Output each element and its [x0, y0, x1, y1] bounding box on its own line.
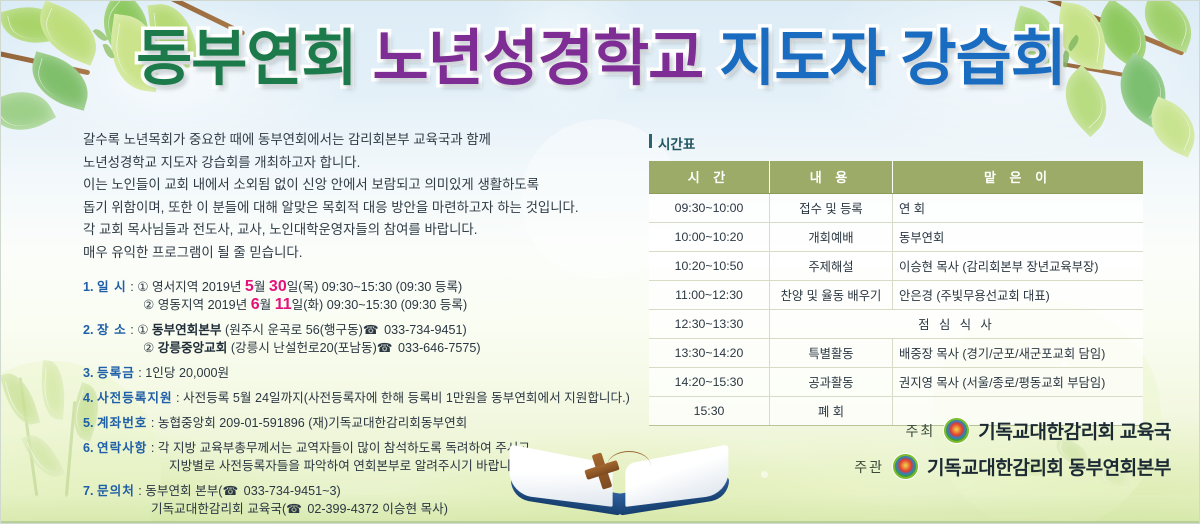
detail-value: : 1인당 20,000원 [138, 366, 229, 380]
detail-label: 문의처 [97, 484, 135, 498]
phone-icon [363, 323, 381, 337]
intro-line: 돕기 위함이며, 또한 이 분들에 대해 알맞은 목회적 대응 방안을 마련하고… [83, 197, 643, 220]
cell-person: 동부연회 [893, 223, 1144, 252]
column-header-time: 시 간 [649, 161, 770, 194]
table-row: 14:20~15:30 공과활동 권지영 목사 (서울/종로/평동교회 부담임) [649, 368, 1143, 397]
poster-canvas: 동부연회 노년성경학교 지도자 강습회 갈수록 노년목회가 중요한 때에 동부연… [0, 0, 1200, 524]
phone-icon [223, 484, 241, 498]
detail-label: 계좌번호 [97, 416, 147, 430]
detail-item-preregistration: 4. 사전등록지원 : 사전등록 5월 24일까지(사전등록자에 한해 등록비 … [83, 389, 643, 407]
detail-label: 등록금 [97, 366, 135, 380]
contact-sub-prefix: 기독교대한감리회 교육국( [151, 502, 286, 516]
title-part-program: 노년성경학교 [373, 24, 704, 92]
detail-number: 7. [83, 484, 94, 498]
cell-topic: 개회예배 [770, 223, 893, 252]
intro-line: 노년성경학교 지도자 강습회를 개최하고자 합니다. [83, 152, 643, 175]
venue-a-marker: ① [137, 323, 152, 337]
intro-line: 이는 노인들이 교회 내에서 소외됨 없이 신앙 안에서 보람되고 의미있게 생… [83, 174, 643, 197]
detail-number: 1. [83, 280, 94, 294]
cell-person: 안은경 (주빛무용선교회 대표) [893, 281, 1144, 310]
column-header-topic: 내 용 [770, 161, 893, 194]
cell-topic: 특별활동 [770, 339, 893, 368]
detail-day-highlight: 11 [275, 296, 292, 313]
detail-number: 4. [83, 391, 94, 405]
detail-month-highlight: 6 [251, 296, 260, 313]
venue-b-name: 강릉중앙교회 [158, 341, 228, 355]
cell-topic: 접수 및 등록 [770, 194, 893, 223]
detail-value-b-prefix: ② 영동지역 2019년 [143, 298, 251, 312]
intro-line: 매우 유익한 프로그램이 될 줄 믿습니다. [83, 242, 643, 265]
cell-time: 10:20~10:50 [649, 252, 770, 281]
table-row: 09:30~10:00 접수 및 등록 연 회 [649, 194, 1143, 223]
column-header-person: 맡 은 이 [893, 161, 1144, 194]
cell-topic: 공과활동 [770, 368, 893, 397]
detail-month-highlight: 5 [245, 278, 254, 295]
intro-line: 갈수록 노년목회가 중요한 때에 동부연회에서는 감리회본부 교육국과 함께 [83, 129, 643, 152]
detail-item-fee: 3. 등록금 : 1인당 20,000원 [83, 364, 643, 382]
cell-topic: 주제해설 [770, 252, 893, 281]
detail-month-suffix: 월 [260, 298, 275, 312]
cell-person: 이승현 목사 (감리회본부 장년교육부장) [893, 252, 1144, 281]
intro-paragraph: 갈수록 노년목회가 중요한 때에 동부연회에서는 감리회본부 교육국과 함께 노… [83, 129, 643, 265]
cell-time: 11:00~12:30 [649, 281, 770, 310]
detail-number: 3. [83, 366, 94, 380]
detail-number: 5. [83, 416, 94, 430]
schedule-table-body: 09:30~10:00 접수 및 등록 연 회 10:00~10:20 개회예배… [649, 194, 1143, 426]
phone-icon [286, 502, 304, 516]
methodist-church-emblem-icon [893, 454, 918, 479]
detail-label: 연락사항 [97, 441, 147, 455]
contact-value-prefix: : 동부연회 본부( [138, 484, 222, 498]
detail-label: 장 소 [97, 323, 127, 337]
detail-colon: : [130, 323, 134, 337]
detail-value: : 사전등록 5월 24일까지(사전등록자에 한해 등록비 1만원을 동부연회에… [176, 391, 630, 405]
detail-value: : 농협중앙회 209-01-591896 (재)기독교대한감리회동부연회 [151, 416, 467, 430]
right-content-column: 시간표 시 간 내 용 맡 은 이 09:30~10:00 접수 및 등록 연 … [649, 133, 1149, 426]
detail-item-venue: 2. 장 소 : ① 동부연회본부 (원주시 운곡로 56(행구동) 033-7… [83, 321, 643, 357]
grass-leaf-decoration [39, 360, 67, 420]
detail-value-a-suffix: 일(목) 09:30~15:30 (09:30 등록) [287, 280, 463, 294]
cell-topic: 찬양 및 율동 배우기 [770, 281, 893, 310]
methodist-church-emblem-icon [944, 418, 969, 443]
organizer-role-manager: 주관 [854, 457, 884, 477]
detail-subline: ② 영동지역 2019년 6월 11일(화) 09:30~15:30 (09:3… [83, 296, 643, 314]
detail-value-b-suffix: 일(화) 09:30~15:30 (09:30 등록) [292, 298, 468, 312]
title-part-event: 지도자 강습회 [719, 24, 1066, 92]
bokeh-dot [761, 471, 768, 478]
poster-title: 동부연회 노년성경학교 지도자 강습회 [1, 23, 1200, 93]
cell-person: 연 회 [893, 194, 1144, 223]
cell-time: 09:30~10:00 [649, 194, 770, 223]
phone-icon [377, 341, 395, 355]
venue-b-address: (강릉시 난설헌로20(포남동) [227, 341, 376, 355]
organizer-name-host: 기독교대한감리회 교육국 [978, 417, 1171, 444]
cell-topic-merged: 점 심 식 사 [770, 310, 1144, 339]
grass-leaf-decoration [21, 428, 64, 483]
table-row: 10:00~10:20 개회예배 동부연회 [649, 223, 1143, 252]
detail-number: 6. [83, 441, 94, 455]
detail-label: 일 시 [97, 280, 127, 294]
intro-line: 각 교회 목사님들과 전도사, 교사, 노인대학운영자들의 참여를 바랍니다. [83, 219, 643, 242]
venue-a-address: (원주시 운곡로 56(행구동) [222, 323, 363, 337]
title-part-organization: 동부연회 [136, 24, 356, 92]
cell-person: 권지영 목사 (서울/종로/평동교회 부담임) [893, 368, 1144, 397]
detail-day-highlight: 30 [269, 278, 287, 295]
table-header-row: 시 간 내 용 맡 은 이 [649, 161, 1143, 194]
table-row: 11:00~12:30 찬양 및 율동 배우기 안은경 (주빛무용선교회 대표) [649, 281, 1143, 310]
open-bible-illustration [511, 433, 731, 524]
cell-time: 10:00~10:20 [649, 223, 770, 252]
cell-time: 13:30~14:20 [649, 339, 770, 368]
detail-value-a-prefix: ① 영서지역 2019년 [137, 280, 245, 294]
schedule-table: 시 간 내 용 맡 은 이 09:30~10:00 접수 및 등록 연 회 10… [649, 161, 1143, 426]
detail-subline: ② 강릉중앙교회 (강릉시 난설헌로20(포남동) 033-646-7575) [83, 339, 643, 357]
organizer-row-host: 주최 기독교대한감리회 교육국 [854, 417, 1171, 444]
detail-label: 사전등록지원 [97, 391, 173, 405]
cell-time: 14:20~15:30 [649, 368, 770, 397]
cell-time: 15:30 [649, 397, 770, 426]
cell-person: 배중장 목사 (경기/군포/새군포교회 담임) [893, 339, 1144, 368]
venue-b-marker: ② [143, 341, 158, 355]
schedule-heading: 시간표 [649, 133, 1149, 153]
contact-sub-phone: 02-399-4372 이승현 목사) [304, 502, 448, 516]
detail-item-datetime: 1. 일 시 : ① 영서지역 2019년 5월 30일(목) 09:30~15… [83, 278, 643, 314]
detail-value: : 각 지방 교육부총무께서는 교역자들이 많이 참석하도록 독려하여 주시고 [151, 441, 530, 455]
table-row-lunch: 12:30~13:30 점 심 식 사 [649, 310, 1143, 339]
cell-time: 12:30~13:30 [649, 310, 770, 339]
contact-phone: 033-734-9451~3) [240, 484, 340, 498]
detail-item-account: 5. 계좌번호 : 농협중앙회 209-01-591896 (재)기독교대한감리… [83, 414, 643, 432]
venue-a-name: 동부연회본부 [152, 323, 222, 337]
detail-number: 2. [83, 323, 94, 337]
organizer-block: 주최 기독교대한감리회 교육국 주관 기독교대한감리회 동부연회본부 [854, 417, 1171, 489]
organizer-role-host: 주최 [905, 421, 935, 441]
table-row: 10:20~10:50 주제해설 이승현 목사 (감리회본부 장년교육부장) [649, 252, 1143, 281]
venue-a-phone: 033-734-9451) [381, 323, 467, 337]
organizer-row-manager: 주관 기독교대한감리회 동부연회본부 [854, 453, 1171, 480]
detail-month-suffix: 월 [254, 280, 269, 294]
table-row: 13:30~14:20 특별활동 배중장 목사 (경기/군포/새군포교회 담임) [649, 339, 1143, 368]
detail-colon: : [130, 280, 134, 294]
organizer-name-manager: 기독교대한감리회 동부연회본부 [927, 453, 1171, 480]
venue-b-phone: 033-646-7575) [394, 341, 480, 355]
